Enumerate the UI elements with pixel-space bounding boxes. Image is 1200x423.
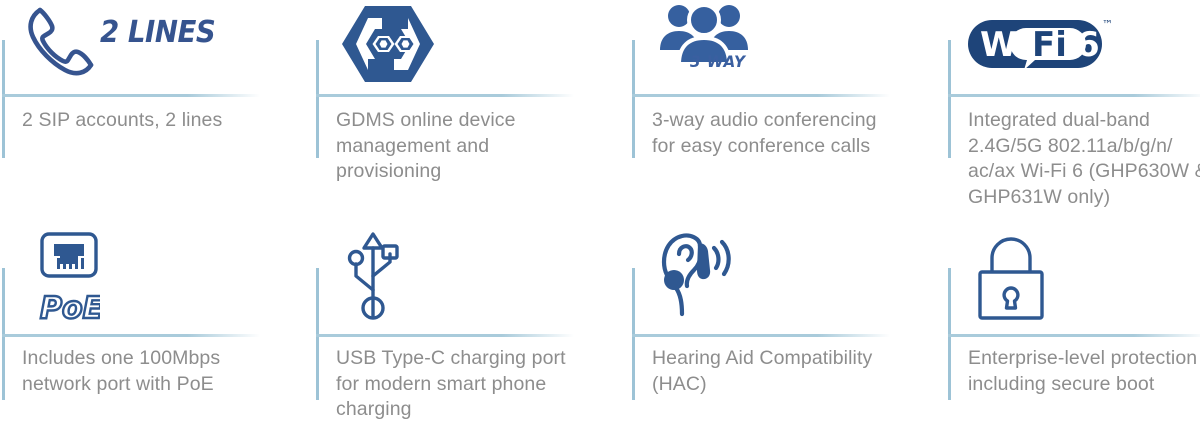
card-vertical-rule xyxy=(316,40,319,158)
feature-icon-area xyxy=(652,228,746,324)
card-horizontal-rule xyxy=(948,94,1200,97)
feature-icon-area: PoE xyxy=(22,228,122,324)
card-vertical-rule xyxy=(632,40,635,158)
card-vertical-rule xyxy=(2,40,5,158)
feature-description: Enterprise-level protection including se… xyxy=(968,346,1200,397)
feature-description: Integrated dual-band 2.4G/5G 802.11a/b/g… xyxy=(968,108,1200,210)
trademark-mark: ™ xyxy=(1102,18,1113,31)
gdms-hexagon-chip-icon xyxy=(338,2,438,86)
phone-handset-2-lines-icon xyxy=(24,4,94,86)
rj45-poe-port-icon: PoE xyxy=(38,228,100,324)
feature-icon-area: 3 WAY xyxy=(654,0,764,86)
feature-icon-area xyxy=(338,0,438,86)
svg-text:6: 6 xyxy=(1076,25,1100,65)
feature-icon-area: 2 LINES xyxy=(24,0,225,86)
feature-wordmark: PoE xyxy=(40,291,100,324)
feature-description: 2 SIP accounts, 2 lines xyxy=(22,108,268,134)
feature-description: Hearing Aid Compatibility (HAC) xyxy=(652,346,902,397)
feature-description: USB Type-C charging port for modern smar… xyxy=(336,346,586,423)
feature-wordmark: 3 WAY xyxy=(690,52,746,71)
card-horizontal-rule xyxy=(948,334,1200,337)
feature-description: GDMS online device management and provis… xyxy=(336,108,582,185)
ear-hearing-aid-icon xyxy=(654,232,746,324)
feature-grid: 2 LINES 2 SIP accounts, 2 lines GDMS onl… xyxy=(0,0,1200,413)
card-horizontal-rule xyxy=(2,94,260,97)
card-horizontal-rule xyxy=(316,334,574,337)
card-vertical-rule xyxy=(948,40,951,158)
feature-icon-area xyxy=(968,228,1050,324)
card-horizontal-rule xyxy=(316,94,574,97)
card-horizontal-rule xyxy=(632,94,890,97)
usb-trident-icon xyxy=(340,228,406,324)
feature-description: Includes one 100Mbps network port with P… xyxy=(22,346,272,397)
feature-description: 3-way audio conferencing for easy confer… xyxy=(652,108,898,159)
feature-icon-area: Wi Fi 6 ™ xyxy=(966,0,1116,86)
card-horizontal-rule xyxy=(2,334,260,337)
padlock-secure-boot-icon xyxy=(972,232,1050,324)
feature-wordmark: 2 LINES xyxy=(100,15,215,50)
wifi-6-badge-icon: Wi Fi 6 ™ xyxy=(966,6,1116,86)
feature-icon-area xyxy=(336,228,406,324)
card-horizontal-rule xyxy=(632,334,890,337)
svg-text:Fi: Fi xyxy=(1032,25,1067,65)
